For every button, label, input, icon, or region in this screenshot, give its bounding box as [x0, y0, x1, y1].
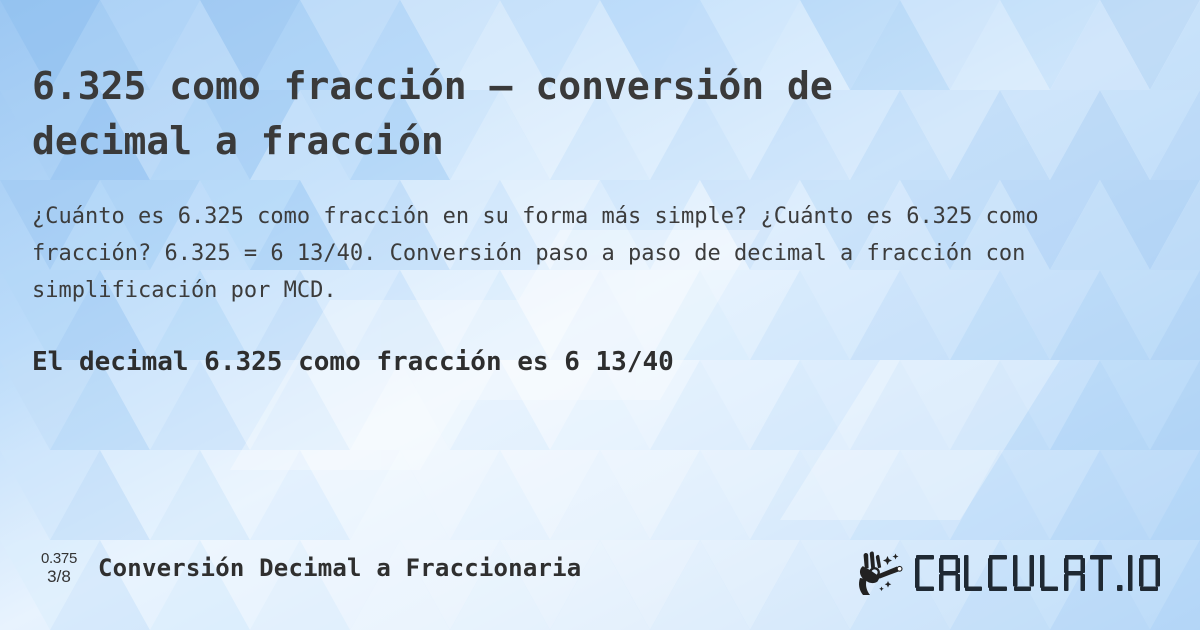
- brand-logo[interactable]: [850, 547, 1182, 599]
- hand-magic-wand-icon: [850, 550, 908, 596]
- badge-decimal: 0.375: [28, 550, 90, 567]
- fraction-badge-icon: 0.375 3/8: [28, 550, 90, 586]
- answer-statement: El decimal 6.325 como fracción es 6 13/4…: [32, 344, 674, 380]
- brand-wordmark: [914, 550, 1182, 596]
- page-description: ¿Cuánto es 6.325 como fracción en su for…: [32, 198, 1157, 309]
- page-title-line-1: 6.325 como fracción – conversión de: [32, 64, 833, 108]
- page-title-line-2: decimal a fracción: [32, 119, 444, 163]
- description-line-1: ¿Cuánto es 6.325 como fracción en su for…: [32, 204, 747, 229]
- og-image-canvas: 6.325 como fracción – conversión de deci…: [0, 0, 1200, 630]
- badge-fraction: 3/8: [28, 567, 90, 586]
- footer-bar: 0.375 3/8 Conversión Decimal a Fracciona…: [0, 548, 1200, 600]
- page-title: 6.325 como fracción – conversión de deci…: [32, 59, 1152, 169]
- footer-category-title: Conversión Decimal a Fraccionaria: [98, 551, 581, 585]
- description-line-4: MCD.: [284, 278, 337, 303]
